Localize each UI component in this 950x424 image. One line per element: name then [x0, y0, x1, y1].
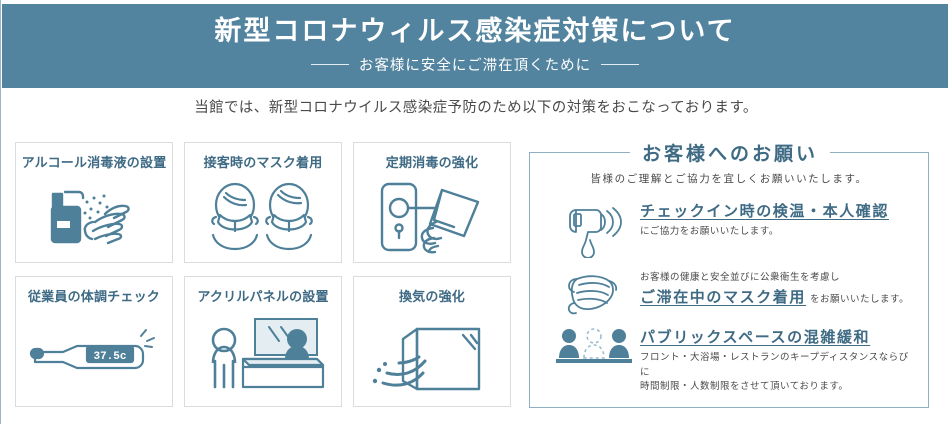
measure-card-sanitizer: アルコール消毒液の設置: [15, 142, 173, 263]
guest-request-panel: お客様へのお願い 皆様のご理解とご協力を宜しくお願いいたします。: [529, 152, 929, 408]
measure-card-ventilation: 換気の強化: [353, 276, 511, 407]
page-header-band: 新型コロナウィルス感染症対策について お客様に安全にご滞在頂くために: [2, 4, 948, 88]
request-headline-row: チェックイン時の検温・本人確認: [640, 200, 889, 221]
request-item-mask: お客様の健康と安全並びに公衆衛生を考慮し ご滞在中のマスク着用をお願いいたします…: [530, 265, 928, 315]
request-headline-row: ご滞在中のマスク着用をお願いいたします。: [640, 286, 909, 307]
svg-text:37.5c: 37.5c: [93, 351, 126, 363]
left-rule: [311, 64, 349, 65]
thermometer-icon: 37.5c: [16, 305, 172, 406]
panel-lead-text: 皆様のご理解とご協力を宜しくお願いいたします。: [530, 171, 928, 186]
request-headline[interactable]: チェックイン時の検温・本人確認: [640, 203, 889, 220]
measure-card-title: アルコール消毒液の設置: [22, 152, 167, 171]
open-door-ventilation-icon: [354, 305, 510, 406]
request-item-body: お客様の健康と安全並びに公衆衛生を考慮し ご滞在中のマスク着用をお願いいたします…: [640, 265, 909, 307]
request-item-distancing: パブリックスペースの混雑緩和 フロント・大浴場・レストランのキープディスタンスな…: [530, 322, 928, 395]
request-post-text: フロント・大浴場・レストランのキープディスタンスならびに 時間制限・人数制限をさ…: [640, 351, 914, 395]
measure-card-acrylic-panel: アクリルパネルの設置: [184, 276, 342, 407]
intro-text: 当館では、新型コロナウイルス感染症予防のため以下の対策をおこなっております。: [1, 96, 950, 117]
measures-grid: アルコール消毒液の設置: [15, 142, 511, 407]
masked-staff-icon: [185, 171, 341, 262]
measure-card-mask-staff: 接客時のマスク着用: [184, 142, 342, 263]
request-headline[interactable]: ご滞在中のマスク着用: [640, 289, 806, 306]
measure-card-staff-health: 従業員の体調チェック 37.5c: [15, 276, 173, 407]
measure-card-disinfection: 定期消毒の強化: [353, 142, 511, 263]
request-headline[interactable]: パブリックスペースの混雑緩和: [640, 329, 870, 346]
door-handle-wipe-icon: [354, 171, 510, 262]
measure-card-title: アクリルパネルの設置: [197, 286, 328, 305]
request-headline-row: パブリックスペースの混雑緩和: [640, 326, 914, 347]
face-mask-icon: [548, 265, 640, 315]
forehead-thermometer-gun-icon: [548, 196, 640, 258]
measure-card-title: 従業員の体調チェック: [28, 286, 160, 305]
request-pre-text: お客様の健康と安全並びに公衆衛生を考慮し: [640, 269, 909, 283]
request-tail-text: をお願いいたします。: [810, 294, 909, 305]
social-distance-people-icon: [548, 322, 640, 370]
header-subtitle-row: お客様に安全にご滞在頂くために: [2, 54, 948, 75]
page-title: 新型コロナウィルス感染症対策について: [2, 4, 948, 45]
covid-measures-page: 新型コロナウィルス感染症対策について お客様に安全にご滞在頂くために 当館では、…: [0, 0, 950, 424]
measure-card-title: 接客時のマスク着用: [204, 152, 323, 171]
request-post-text: にご協力をお願いいたします。: [640, 225, 889, 240]
right-rule: [601, 64, 639, 65]
request-item-body: パブリックスペースの混雑緩和 フロント・大浴場・レストランのキープディスタンスな…: [640, 322, 914, 395]
sanitizer-dispenser-icon: [16, 171, 172, 262]
request-item-temperature-check: チェックイン時の検温・本人確認 にご協力をお願いいたします。: [530, 196, 928, 258]
measure-card-title: 定期消毒の強化: [386, 152, 478, 171]
panel-title-text: お客様へのお願い: [630, 139, 830, 166]
page-subtitle: お客様に安全にご滞在頂くために: [359, 54, 591, 75]
acrylic-panel-counter-icon: [185, 305, 341, 406]
request-item-body: チェックイン時の検温・本人確認 にご協力をお願いいたします。: [640, 196, 889, 240]
measure-card-title: 換気の強化: [399, 286, 465, 305]
request-list: チェックイン時の検温・本人確認 にご協力をお願いいたします。: [530, 186, 928, 395]
guest-request-panel-title: お客様へのお願い: [530, 139, 930, 166]
